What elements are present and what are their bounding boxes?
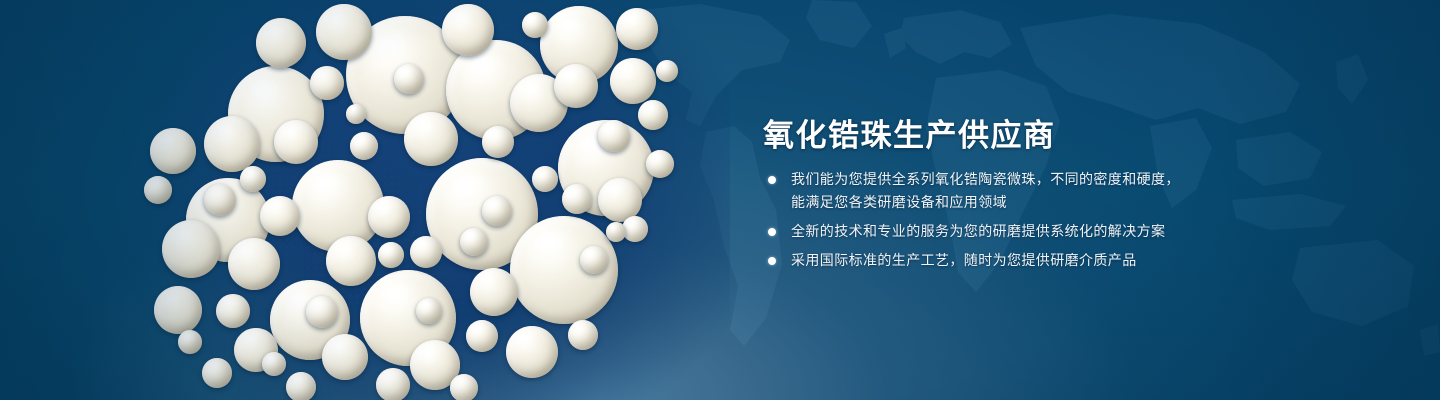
list-item: 全新的技术和专业的服务为您的研磨提供系统化的解决方案 xyxy=(763,220,1180,243)
feature-text-line1: 全新的技术和专业的服务为您的研磨提供系统化的解决方案 xyxy=(791,223,1165,239)
banner-content: 氧化锆珠生产供应商 我们能为您提供全系列氧化锆陶瓷微珠，不同的密度和硬度， 能满… xyxy=(763,0,1283,400)
feature-text-line1: 采用国际标准的生产工艺，随时为您提供研磨介质产品 xyxy=(791,252,1137,268)
banner-headline: 氧化锆珠生产供应商 xyxy=(763,110,1056,155)
hero-banner: 氧化锆珠生产供应商 我们能为您提供全系列氧化锆陶瓷微珠，不同的密度和硬度， 能满… xyxy=(0,0,1440,400)
feature-text-line2: 能满足您各类研磨设备和应用领域 xyxy=(791,191,1180,214)
zirconia-bead-cluster xyxy=(110,0,730,400)
bullet-dot-icon xyxy=(768,228,776,236)
bullet-dot-icon xyxy=(768,176,776,184)
list-item: 我们能为您提供全系列氧化锆陶瓷微珠，不同的密度和硬度， 能满足您各类研磨设备和应… xyxy=(763,168,1180,214)
list-item: 采用国际标准的生产工艺，随时为您提供研磨介质产品 xyxy=(763,249,1180,272)
product-photo xyxy=(110,0,730,400)
feature-text-line1: 我们能为您提供全系列氧化锆陶瓷微珠，不同的密度和硬度， xyxy=(791,171,1180,187)
bullet-dot-icon xyxy=(768,257,776,265)
feature-list: 我们能为您提供全系列氧化锆陶瓷微珠，不同的密度和硬度， 能满足您各类研磨设备和应… xyxy=(763,168,1180,278)
